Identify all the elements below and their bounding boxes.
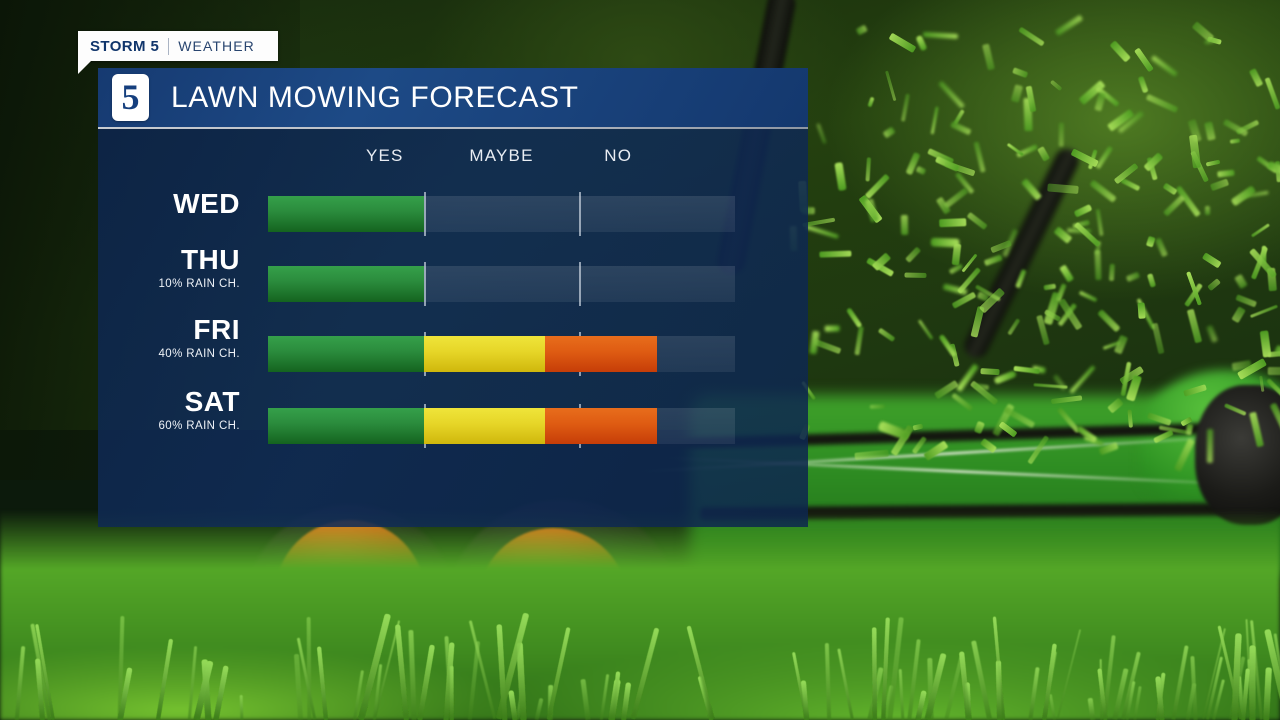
scale-headers: YESMAYBENO bbox=[98, 146, 808, 174]
day-label: THU bbox=[98, 246, 240, 274]
station-banner: STORM 5 WEATHER bbox=[78, 31, 278, 61]
bar-segment-no bbox=[545, 336, 657, 372]
scale-header-yes: YES bbox=[366, 146, 404, 166]
bar-segment-maybe bbox=[424, 336, 545, 372]
forecast-panel: 5 LAWN MOWING FORECAST YESMAYBENO WEDTHU… bbox=[98, 68, 808, 527]
station-brand: STORM 5 bbox=[90, 38, 159, 55]
rain-chance-label: 10% RAIN CH. bbox=[98, 278, 240, 290]
bar-segment-yes bbox=[268, 336, 424, 372]
bar-segment-no bbox=[545, 408, 657, 444]
row-track bbox=[268, 408, 735, 444]
rain-chance-label: 60% RAIN CH. bbox=[98, 420, 240, 432]
bar-segment-maybe bbox=[424, 408, 545, 444]
day-label: WED bbox=[98, 190, 240, 218]
row-track bbox=[268, 336, 735, 372]
track-divider-1 bbox=[424, 192, 426, 236]
rain-chance-label: 40% RAIN CH. bbox=[98, 348, 240, 360]
row-label-wed: WED bbox=[98, 190, 240, 218]
day-label: FRI bbox=[98, 316, 240, 344]
panel-titlebar: 5 LAWN MOWING FORECAST bbox=[98, 68, 808, 127]
station-section: WEATHER bbox=[178, 38, 255, 54]
day-label: SAT bbox=[98, 388, 240, 416]
bar-segment-yes bbox=[268, 408, 424, 444]
channel-5-logo-icon: 5 bbox=[112, 74, 149, 121]
scale-header-no: NO bbox=[604, 146, 632, 166]
row-label-fri: FRI40% RAIN CH. bbox=[98, 316, 240, 360]
track-divider-2 bbox=[579, 262, 581, 306]
row-track bbox=[268, 196, 735, 232]
page-title: LAWN MOWING FORECAST bbox=[171, 81, 579, 115]
title-divider bbox=[98, 127, 808, 129]
row-label-thu: THU10% RAIN CH. bbox=[98, 246, 240, 290]
scale-header-maybe: MAYBE bbox=[469, 146, 533, 166]
track-divider-1 bbox=[424, 262, 426, 306]
row-track bbox=[268, 266, 735, 302]
track-divider-2 bbox=[579, 192, 581, 236]
bar-segment-yes bbox=[268, 266, 424, 302]
bar-segment-yes bbox=[268, 196, 424, 232]
row-label-sat: SAT60% RAIN CH. bbox=[98, 388, 240, 432]
banner-tail bbox=[78, 61, 91, 74]
forecast-row: SAT60% RAIN CH. bbox=[98, 408, 808, 468]
banner-divider bbox=[168, 38, 169, 55]
